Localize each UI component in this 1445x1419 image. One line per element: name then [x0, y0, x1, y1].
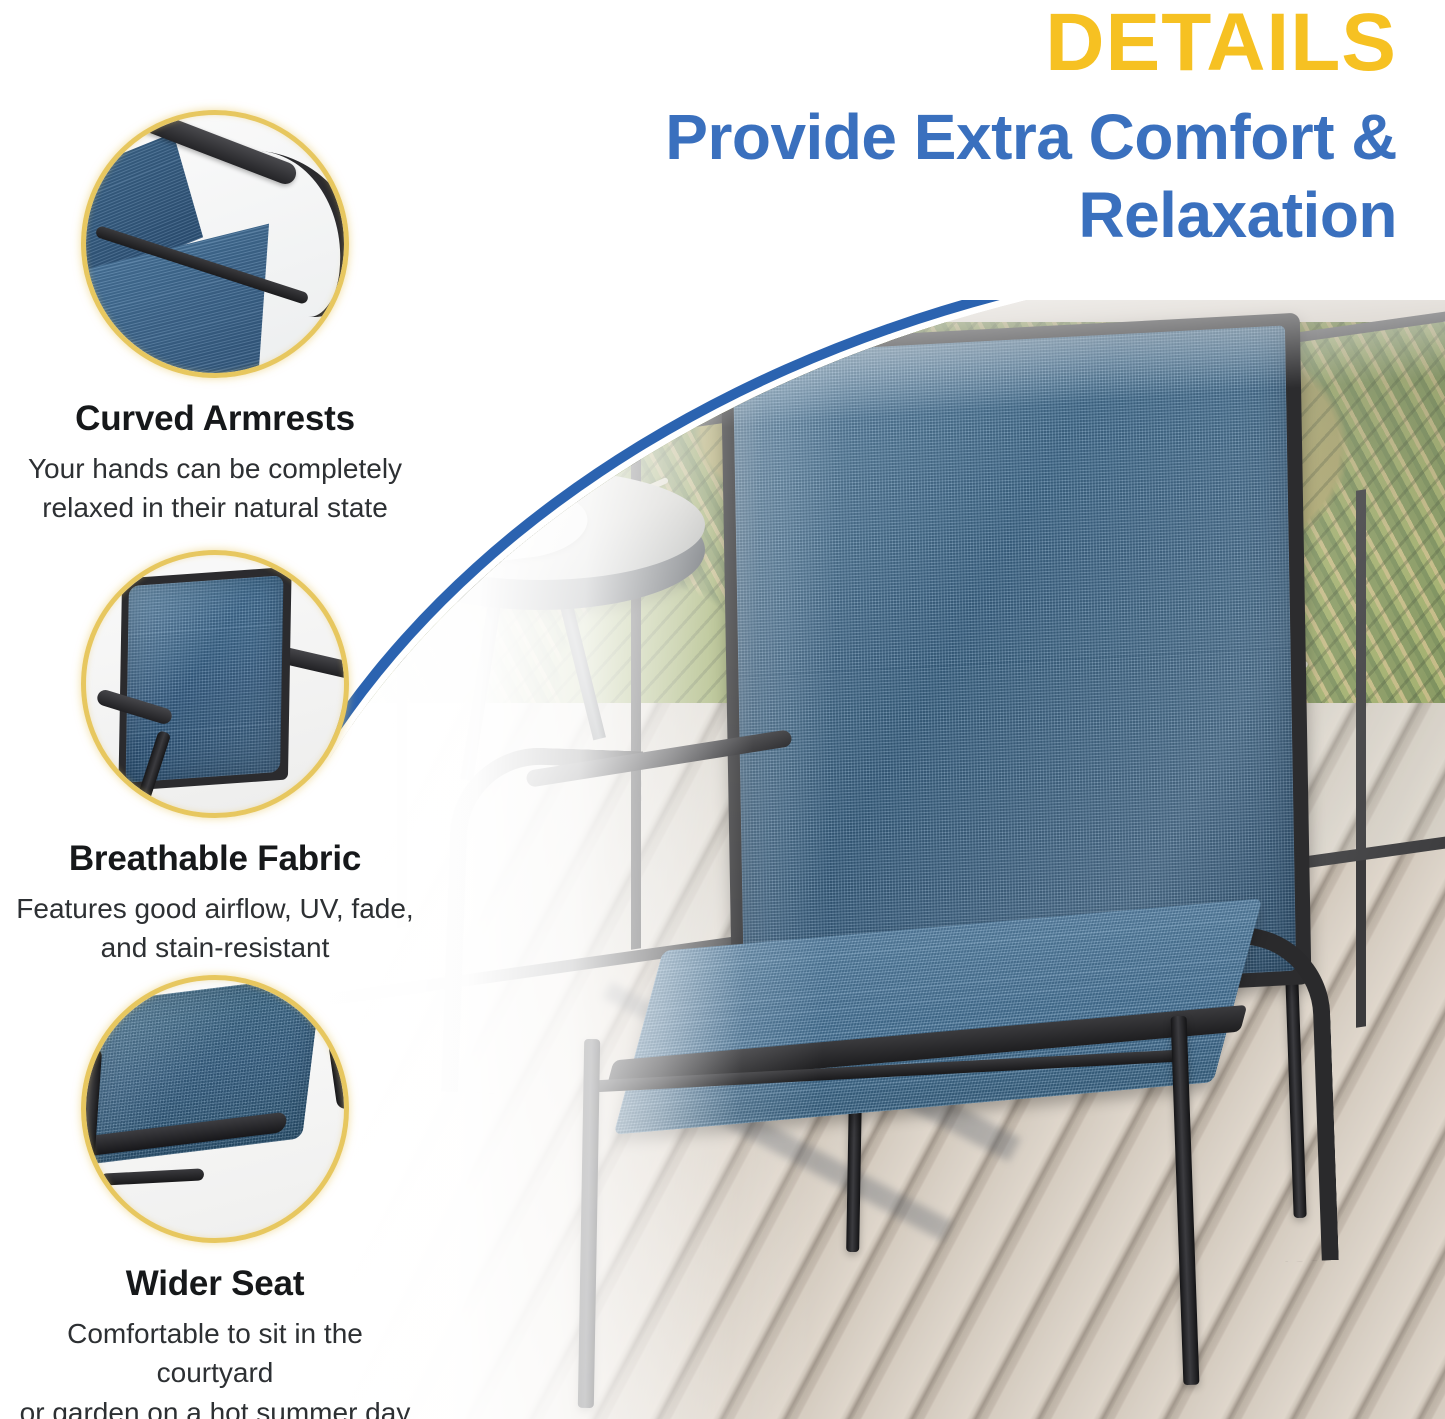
feature-2-desc-line-1: Features good airflow, UV, fade, [16, 893, 413, 924]
headline-line-2: Relaxation [327, 176, 1397, 254]
armrest-left [441, 744, 643, 1097]
wide-seat-icon [86, 980, 344, 1238]
feature-3-desc-line-1: Comfortable to sit in the courtyard [67, 1318, 363, 1389]
sling-highlight [733, 326, 1297, 1000]
headline-line-1: Provide Extra Comfort & [665, 101, 1397, 173]
feature-3-description: Comfortable to sit in the courtyard or g… [0, 1314, 430, 1419]
headline-block: DETAILS Provide Extra Comfort & Relaxati… [327, 2, 1397, 254]
main-product-photo [330, 300, 1445, 1419]
feature-1-desc-line-2: relaxed in their natural state [42, 492, 388, 523]
armrest-closeup-icon [86, 115, 344, 373]
photo-clip-mask [330, 300, 1445, 1419]
feature-1-desc-line-1: Your hands can be completely [28, 453, 402, 484]
feature-2-description: Features good airflow, UV, fade, and sta… [0, 889, 430, 969]
feature-1-title: Curved Armrests [0, 400, 430, 439]
feature-wider-seat: Wider Seat Comfortable to sit in the cou… [0, 975, 430, 1419]
feature-2-desc-line-2: and stain-resistant [101, 932, 330, 963]
chair-back-mesh-icon [86, 555, 344, 813]
feature-3-thumbnail [81, 975, 349, 1243]
branch [443, 427, 621, 471]
feature-3-desc-line-2: or garden on a hot summer day [20, 1397, 411, 1419]
feature-2-thumbnail [81, 550, 349, 818]
headline-main: Provide Extra Comfort & Relaxation [327, 98, 1397, 254]
product-detail-image: DETAILS Provide Extra Comfort & Relaxati… [0, 0, 1445, 1419]
feature-1-description: Your hands can be completely relaxed in … [0, 449, 430, 529]
outdoor-scene [330, 300, 1445, 1419]
sling-chair [330, 300, 1445, 1419]
headline-kicker: DETAILS [327, 2, 1397, 84]
closeup-mesh-highlight [126, 575, 284, 783]
feature-2-title: Breathable Fabric [0, 840, 430, 879]
feature-1-thumbnail [81, 110, 349, 378]
magazine-accent [480, 506, 502, 521]
feature-curved-armrests: Curved Armrests Your hands can be comple… [0, 110, 430, 528]
feature-3-title: Wider Seat [0, 1265, 430, 1304]
feature-breathable-fabric: Breathable Fabric Features good airflow,… [0, 550, 430, 968]
